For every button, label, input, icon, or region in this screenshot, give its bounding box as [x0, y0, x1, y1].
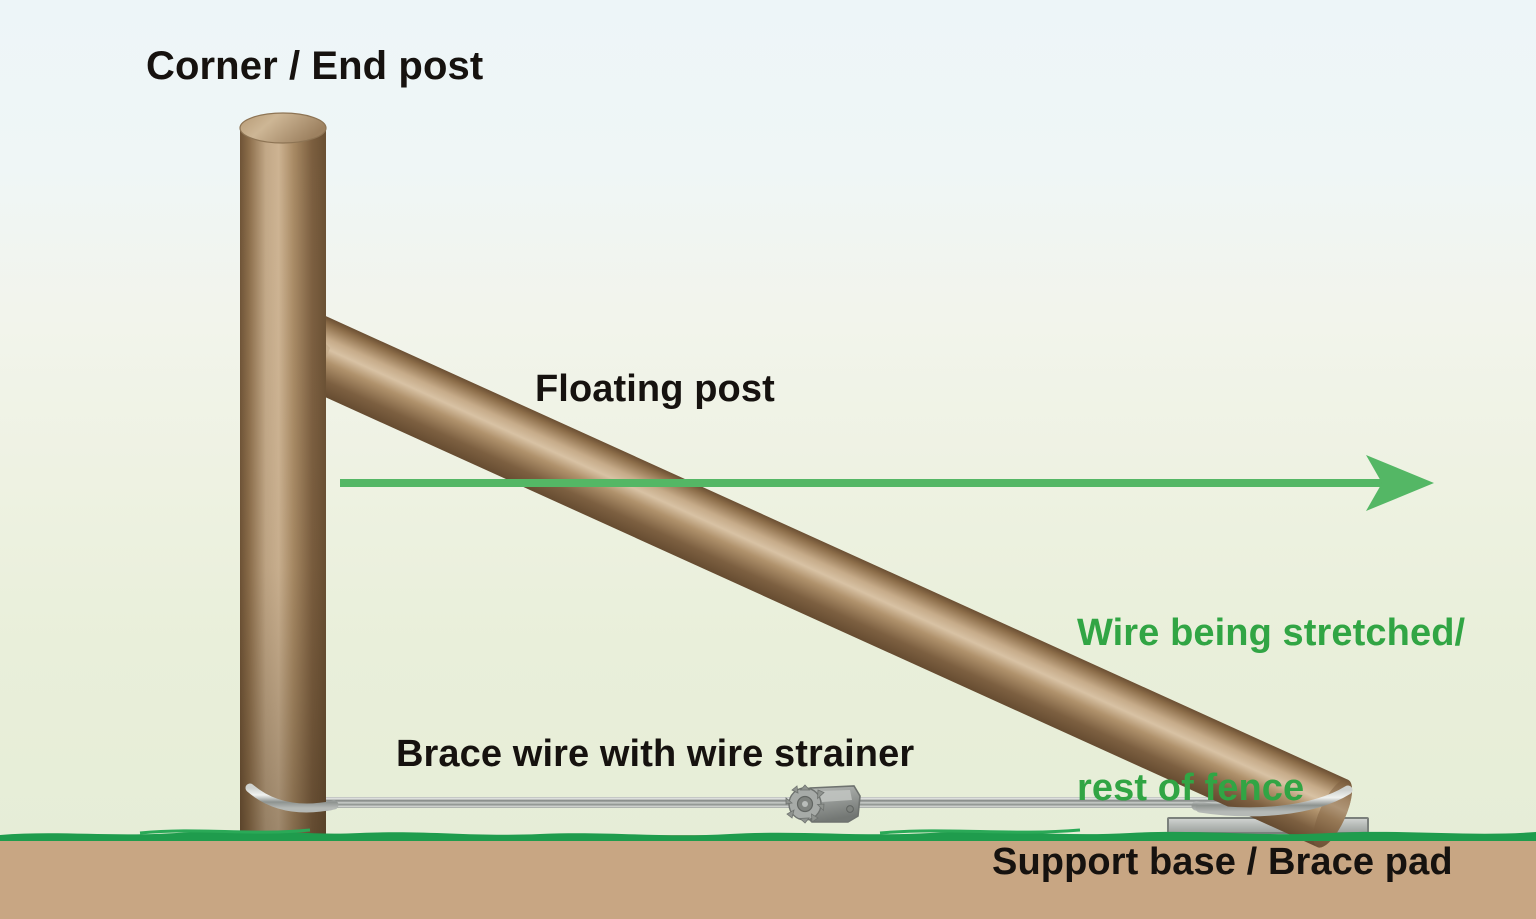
diagram-canvas: Corner / End post Floating post Brace wi… — [0, 0, 1536, 919]
wire-strainer[interactable] — [786, 785, 860, 823]
label-wire-stretched: Wire being stretched/ rest of fence — [1077, 505, 1465, 918]
label-floating-post: Floating post — [535, 368, 775, 411]
label-wire-stretched-line1: Wire being stretched/ — [1077, 608, 1465, 660]
label-corner-post: Corner / End post — [146, 44, 483, 90]
corner-post — [240, 113, 326, 836]
label-wire-stretched-line2: rest of fence — [1077, 763, 1465, 815]
label-brace-wire: Brace wire with wire strainer — [396, 733, 914, 776]
